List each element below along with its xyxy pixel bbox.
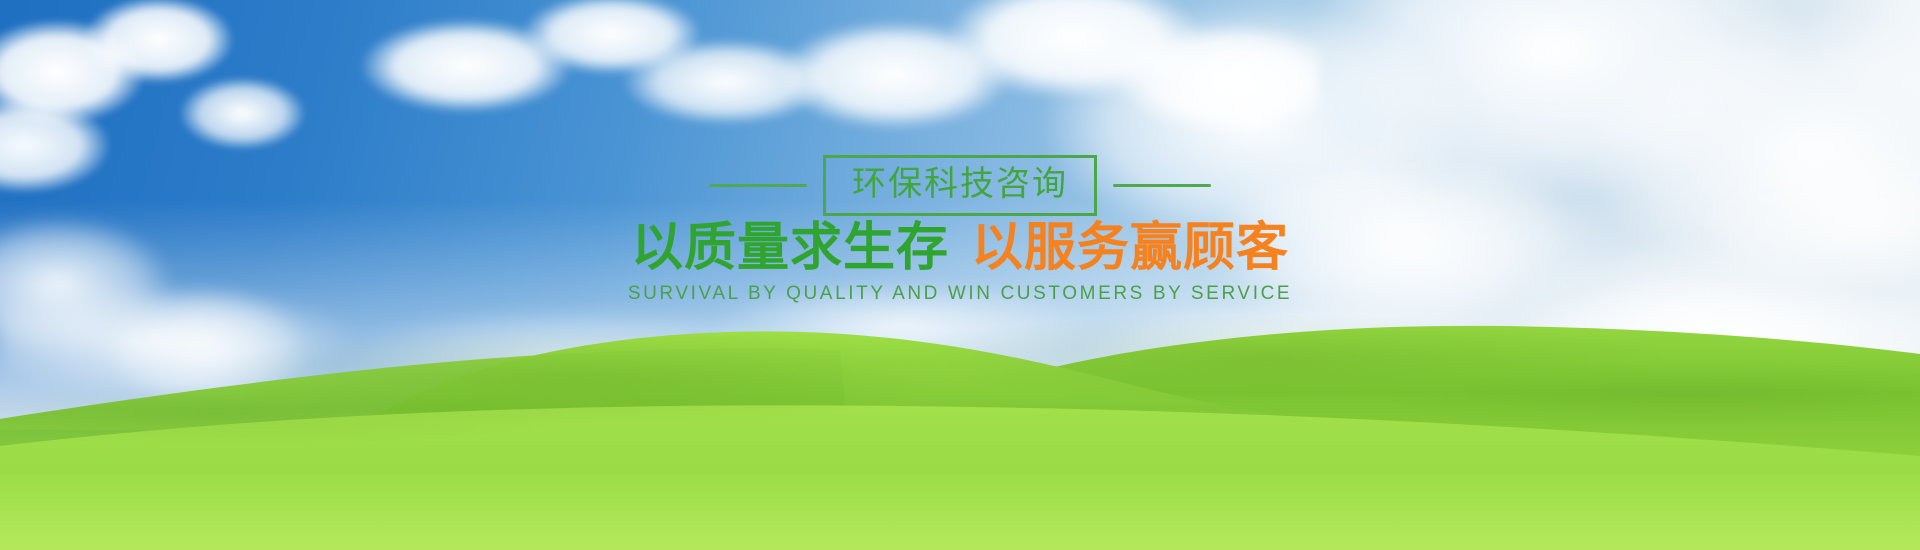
banner-content: 环保科技咨询 以质量求生存以服务赢顾客 SURVIVAL BY QUALITY …	[0, 0, 1920, 550]
tag-label: 环保科技咨询	[852, 167, 1068, 201]
subtitle: SURVIVAL BY QUALITY AND WIN CUSTOMERS BY…	[0, 283, 1920, 305]
headline-green: 以质量求生存	[631, 219, 949, 277]
headline-orange: 以服务赢顾客	[971, 219, 1289, 277]
decorative-line-right	[1113, 184, 1211, 187]
hero-banner: 环保科技咨询 以质量求生存以服务赢顾客 SURVIVAL BY QUALITY …	[0, 0, 1920, 550]
decorative-line-left	[709, 184, 807, 187]
eyebrow-row: 环保科技咨询	[0, 155, 1920, 216]
headline: 以质量求生存以服务赢顾客	[0, 222, 1920, 274]
tag-box: 环保科技咨询	[823, 155, 1097, 216]
